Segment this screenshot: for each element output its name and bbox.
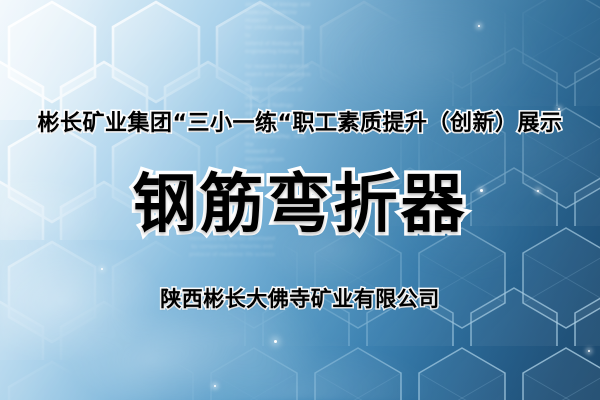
slide-text-container: 彬长矿业集团“三小一练“职工素质提升（创新）展示 钢筋弯折器 陕西彬长大佛寺矿业… xyxy=(0,0,600,400)
title-card-slide: aboratory of biology and molecular medic… xyxy=(0,0,600,400)
slide-main-title: 钢筋弯折器 xyxy=(133,153,468,245)
slide-company-name: 陕西彬长大佛寺矿业有限公司 xyxy=(160,283,440,313)
slide-subtitle: 彬长矿业集团“三小一练“职工素质提升（创新）展示 xyxy=(38,105,563,137)
